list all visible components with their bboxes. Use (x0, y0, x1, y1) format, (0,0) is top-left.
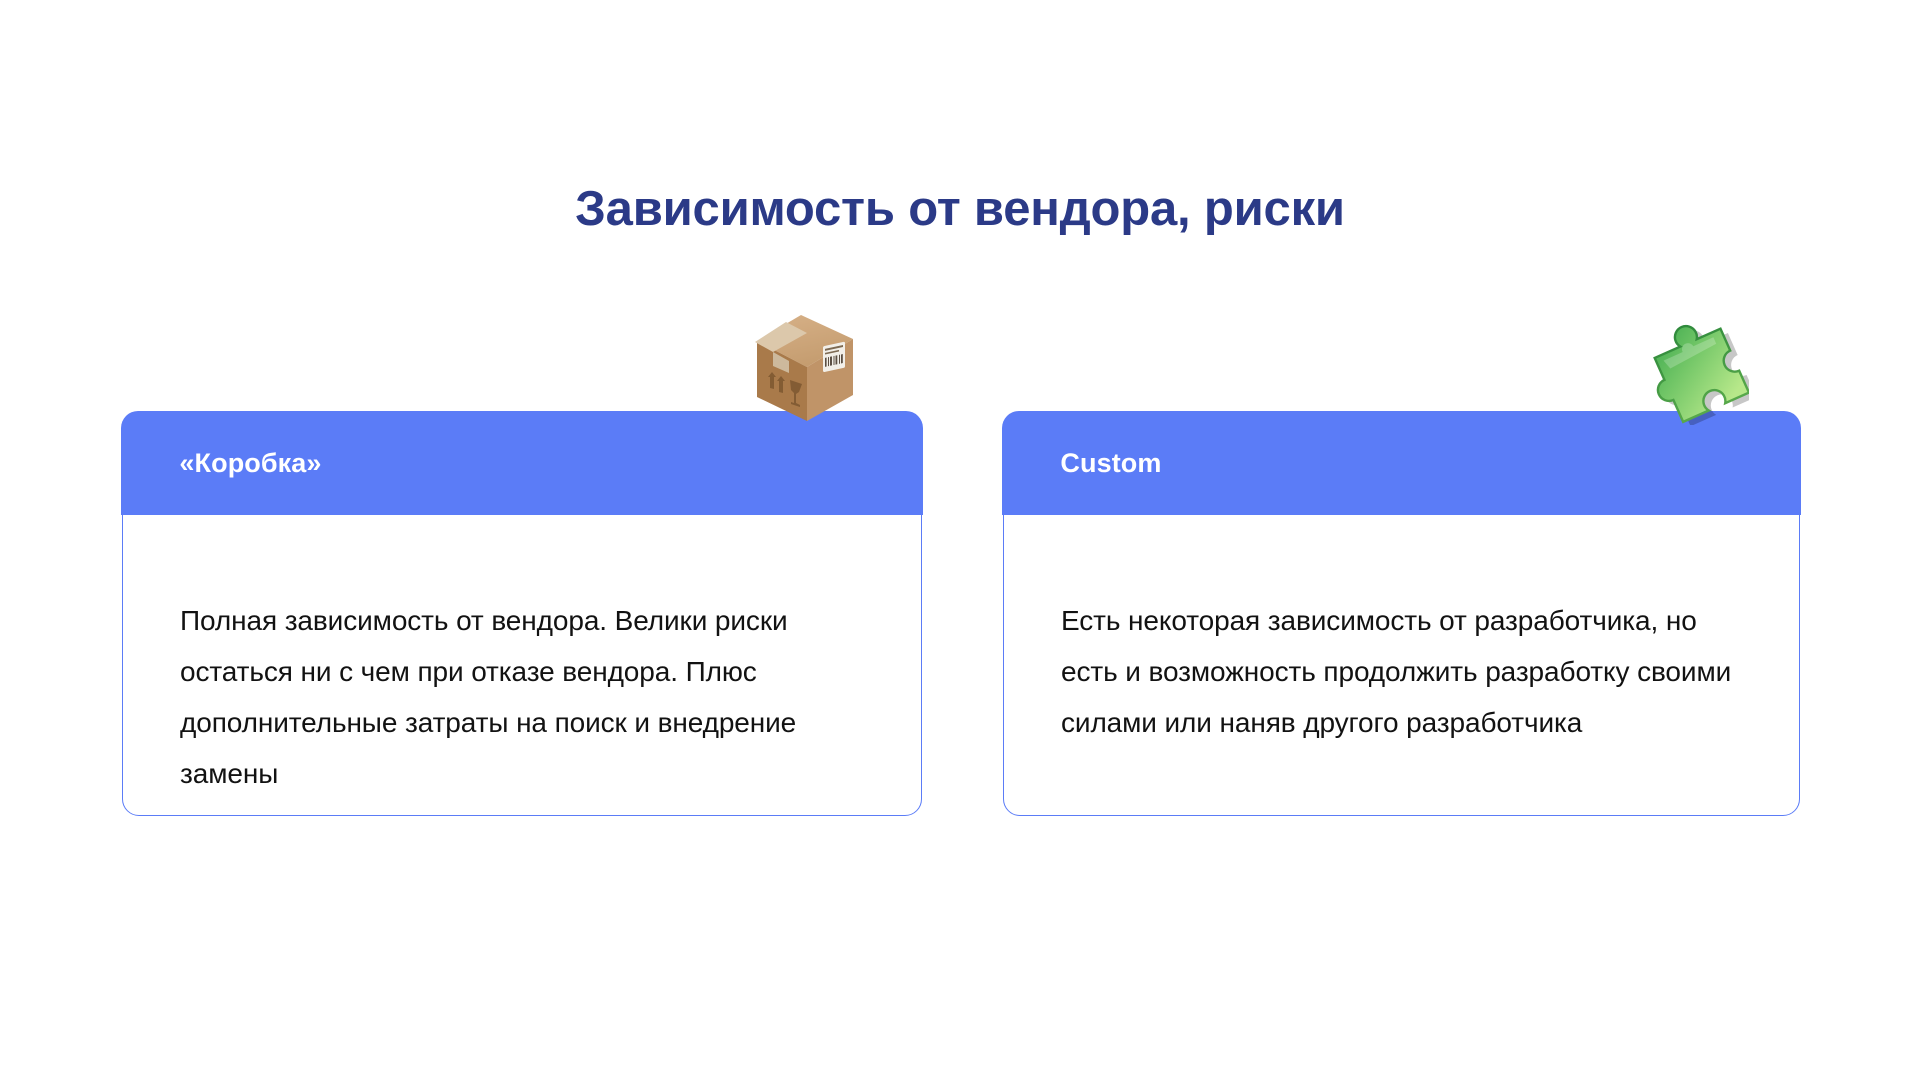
card-body-box: Полная зависимость от вендора. Велики ри… (123, 517, 921, 815)
card-header-title: Custom (1002, 448, 1161, 479)
card-custom: Custom Есть некоторая зависимость от раз… (1003, 412, 1800, 816)
card-header-custom: Custom (1002, 411, 1800, 515)
page-title: Зависимость от вендора, риски (0, 181, 1920, 237)
package-box-icon (749, 311, 859, 425)
card-header-title: «Коробка» (121, 448, 321, 479)
puzzle-piece-icon (1639, 315, 1749, 425)
slide-canvas: Зависимость от вендора, риски (0, 0, 1920, 1080)
card-header-box: «Коробка» (121, 411, 922, 515)
card-body-custom: Есть некоторая зависимость от разработчи… (1004, 517, 1799, 815)
card-description: Полная зависимость от вендора. Велики ри… (180, 595, 881, 799)
card-box: «Коробка» Полная зависимость от вендора.… (122, 412, 922, 816)
card-description: Есть некоторая зависимость от разработчи… (1061, 595, 1759, 748)
